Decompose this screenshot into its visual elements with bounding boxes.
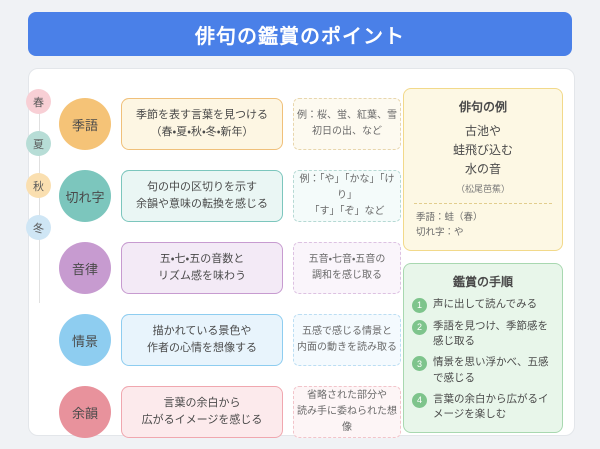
haiku-author: （松尾芭蕉） xyxy=(412,182,554,195)
point-description-line-2: リズム感を味わう xyxy=(158,268,246,285)
step-number-badge: 2 xyxy=(412,320,427,335)
step-text: 言葉の余白から広がるイメージを楽しむ xyxy=(433,392,554,422)
step-text: 季語を見つけ、季節感を感じ取る xyxy=(433,319,554,349)
point-description-line-1: 描かれている景色や xyxy=(153,323,252,340)
appreciation-steps-panel: 鑑賞の手順 1 声に出して読んでみる 2 季語を見つけ、季節感を感じ取る 3 情… xyxy=(403,263,563,433)
point-description-line-1: 言葉の余白から xyxy=(164,395,241,412)
side-panels: 俳句の例 古池や 蛙飛び込む 水の音 （松尾芭蕉） 季語：蛙（春） 切れ字：や … xyxy=(403,88,563,433)
point-example-kigo: 例：桜、蛍、紅葉、雪 初日の出、など xyxy=(293,98,401,150)
point-row-kireji: 切れ字 句の中の区切りを示す 余韻や意味の転換を感じる 例：「や」「かな」「けり… xyxy=(59,160,399,232)
point-example-line-1: 五音・七音・五音の xyxy=(309,252,386,268)
step-item: 3 情景を思い浮かべ、五感で感じる xyxy=(412,355,554,385)
point-example-yoin: 省略された部分や 読み手に委ねられた想像 xyxy=(293,386,401,438)
season-rail: 春 夏 秋 冬 xyxy=(23,89,57,379)
point-example-line-2: 調和を感じ取る xyxy=(312,268,382,284)
point-example-line-1: 五感で感じる情景と xyxy=(302,324,392,340)
point-description-line-2: 広がるイメージを感じる xyxy=(142,412,263,429)
point-row-onritsu: 音律 五・七・五の音数と リズム感を味わう 五音・七音・五音の 調和を感じ取る xyxy=(59,232,399,304)
point-example-joukei: 五感で感じる情景と 内面の動きを読み取る xyxy=(293,314,401,366)
point-term-onritsu: 音律 xyxy=(59,242,111,294)
page-title-banner: 俳句の鑑賞のポイント xyxy=(28,12,572,56)
points-list: 季語 季節を表す言葉を見つける （春・夏・秋・冬・新年） 例：桜、蛍、紅葉、雪 … xyxy=(59,88,399,448)
point-example-line-2: 内面の動きを読み取る xyxy=(297,340,397,356)
step-number-badge: 3 xyxy=(412,356,427,371)
point-description-onritsu: 五・七・五の音数と リズム感を味わう xyxy=(121,242,283,294)
point-example-kireji: 例：「や」「かな」「けり」 「す」「ぞ」など xyxy=(293,170,401,222)
point-description-line-1: 季節を表す言葉を見つける xyxy=(136,107,268,124)
point-description-line-2: 余韻や意味の転換を感じる xyxy=(136,196,268,213)
point-example-line-1: 例：「や」「かな」「けり」 xyxy=(294,172,400,204)
season-rail-line xyxy=(39,95,40,303)
step-number-badge: 4 xyxy=(412,393,427,408)
point-example-line-1: 省略された部分や xyxy=(307,388,387,404)
step-item: 1 声に出して読んでみる xyxy=(412,297,554,313)
steps-list: 1 声に出して読んでみる 2 季語を見つけ、季節感を感じ取る 3 情景を思い浮か… xyxy=(412,297,554,422)
point-description-line-2: （春・夏・秋・冬・新年） xyxy=(151,124,254,141)
haiku-line-2: 蛙飛び込む xyxy=(412,141,554,160)
haiku-panel-title: 俳句の例 xyxy=(412,98,554,115)
point-row-joukei: 情景 描かれている景色や 作者の心情を想像する 五感で感じる情景と 内面の動きを… xyxy=(59,304,399,376)
step-item: 2 季語を見つけ、季節感を感じ取る xyxy=(412,319,554,349)
point-term-kireji: 切れ字 xyxy=(59,170,111,222)
point-row-kigo: 季語 季節を表す言葉を見つける （春・夏・秋・冬・新年） 例：桜、蛍、紅葉、雪 … xyxy=(59,88,399,160)
season-badge-winter: 冬 xyxy=(26,215,51,240)
point-description-kigo: 季節を表す言葉を見つける （春・夏・秋・冬・新年） xyxy=(121,98,283,150)
content-card: 春 夏 秋 冬 季語 季節を表す言葉を見つける （春・夏・秋・冬・新年） 例：桜… xyxy=(28,68,575,436)
steps-panel-title: 鑑賞の手順 xyxy=(412,273,554,290)
step-number-badge: 1 xyxy=(412,298,427,313)
point-term-yoin: 余韻 xyxy=(59,386,111,438)
point-example-line-2: 「す」「ぞ」など xyxy=(310,204,385,220)
haiku-line-1: 古池や xyxy=(412,122,554,141)
point-example-onritsu: 五音・七音・五音の 調和を感じ取る xyxy=(293,242,401,294)
point-term-joukei: 情景 xyxy=(59,314,111,366)
point-description-line-1: 句の中の区切りを示す xyxy=(147,179,257,196)
season-badge-autumn: 秋 xyxy=(26,173,51,198)
point-description-yoin: 言葉の余白から 広がるイメージを感じる xyxy=(121,386,283,438)
haiku-divider xyxy=(414,203,552,204)
haiku-note-kireji: 切れ字：や xyxy=(416,225,554,241)
point-example-line-2: 初日の出、など xyxy=(312,124,382,140)
step-text: 声に出して読んでみる xyxy=(433,297,537,312)
haiku-notes: 季語：蛙（春） 切れ字：や xyxy=(412,210,554,241)
point-description-kireji: 句の中の区切りを示す 余韻や意味の転換を感じる xyxy=(121,170,283,222)
point-example-line-1: 例：桜、蛍、紅葉、雪 xyxy=(297,108,397,124)
haiku-note-kigo: 季語：蛙（春） xyxy=(416,210,554,226)
point-description-joukei: 描かれている景色や 作者の心情を想像する xyxy=(121,314,283,366)
haiku-body: 古池や 蛙飛び込む 水の音 xyxy=(412,122,554,180)
point-description-line-1: 五・七・五の音数と xyxy=(160,251,244,268)
step-text: 情景を思い浮かべ、五感で感じる xyxy=(433,355,554,385)
point-example-line-2: 読み手に委ねられた想像 xyxy=(294,404,400,436)
point-term-kigo: 季語 xyxy=(59,98,111,150)
season-badge-spring: 春 xyxy=(26,89,51,114)
page-title: 俳句の鑑賞のポイント xyxy=(195,20,405,49)
point-description-line-2: 作者の心情を想像する xyxy=(147,340,257,357)
haiku-example-panel: 俳句の例 古池や 蛙飛び込む 水の音 （松尾芭蕉） 季語：蛙（春） 切れ字：や xyxy=(403,88,563,251)
step-item: 4 言葉の余白から広がるイメージを楽しむ xyxy=(412,392,554,422)
season-badge-summer: 夏 xyxy=(26,131,51,156)
haiku-line-3: 水の音 xyxy=(412,160,554,179)
point-row-yoin: 余韻 言葉の余白から 広がるイメージを感じる 省略された部分や 読み手に委ねられ… xyxy=(59,376,399,448)
